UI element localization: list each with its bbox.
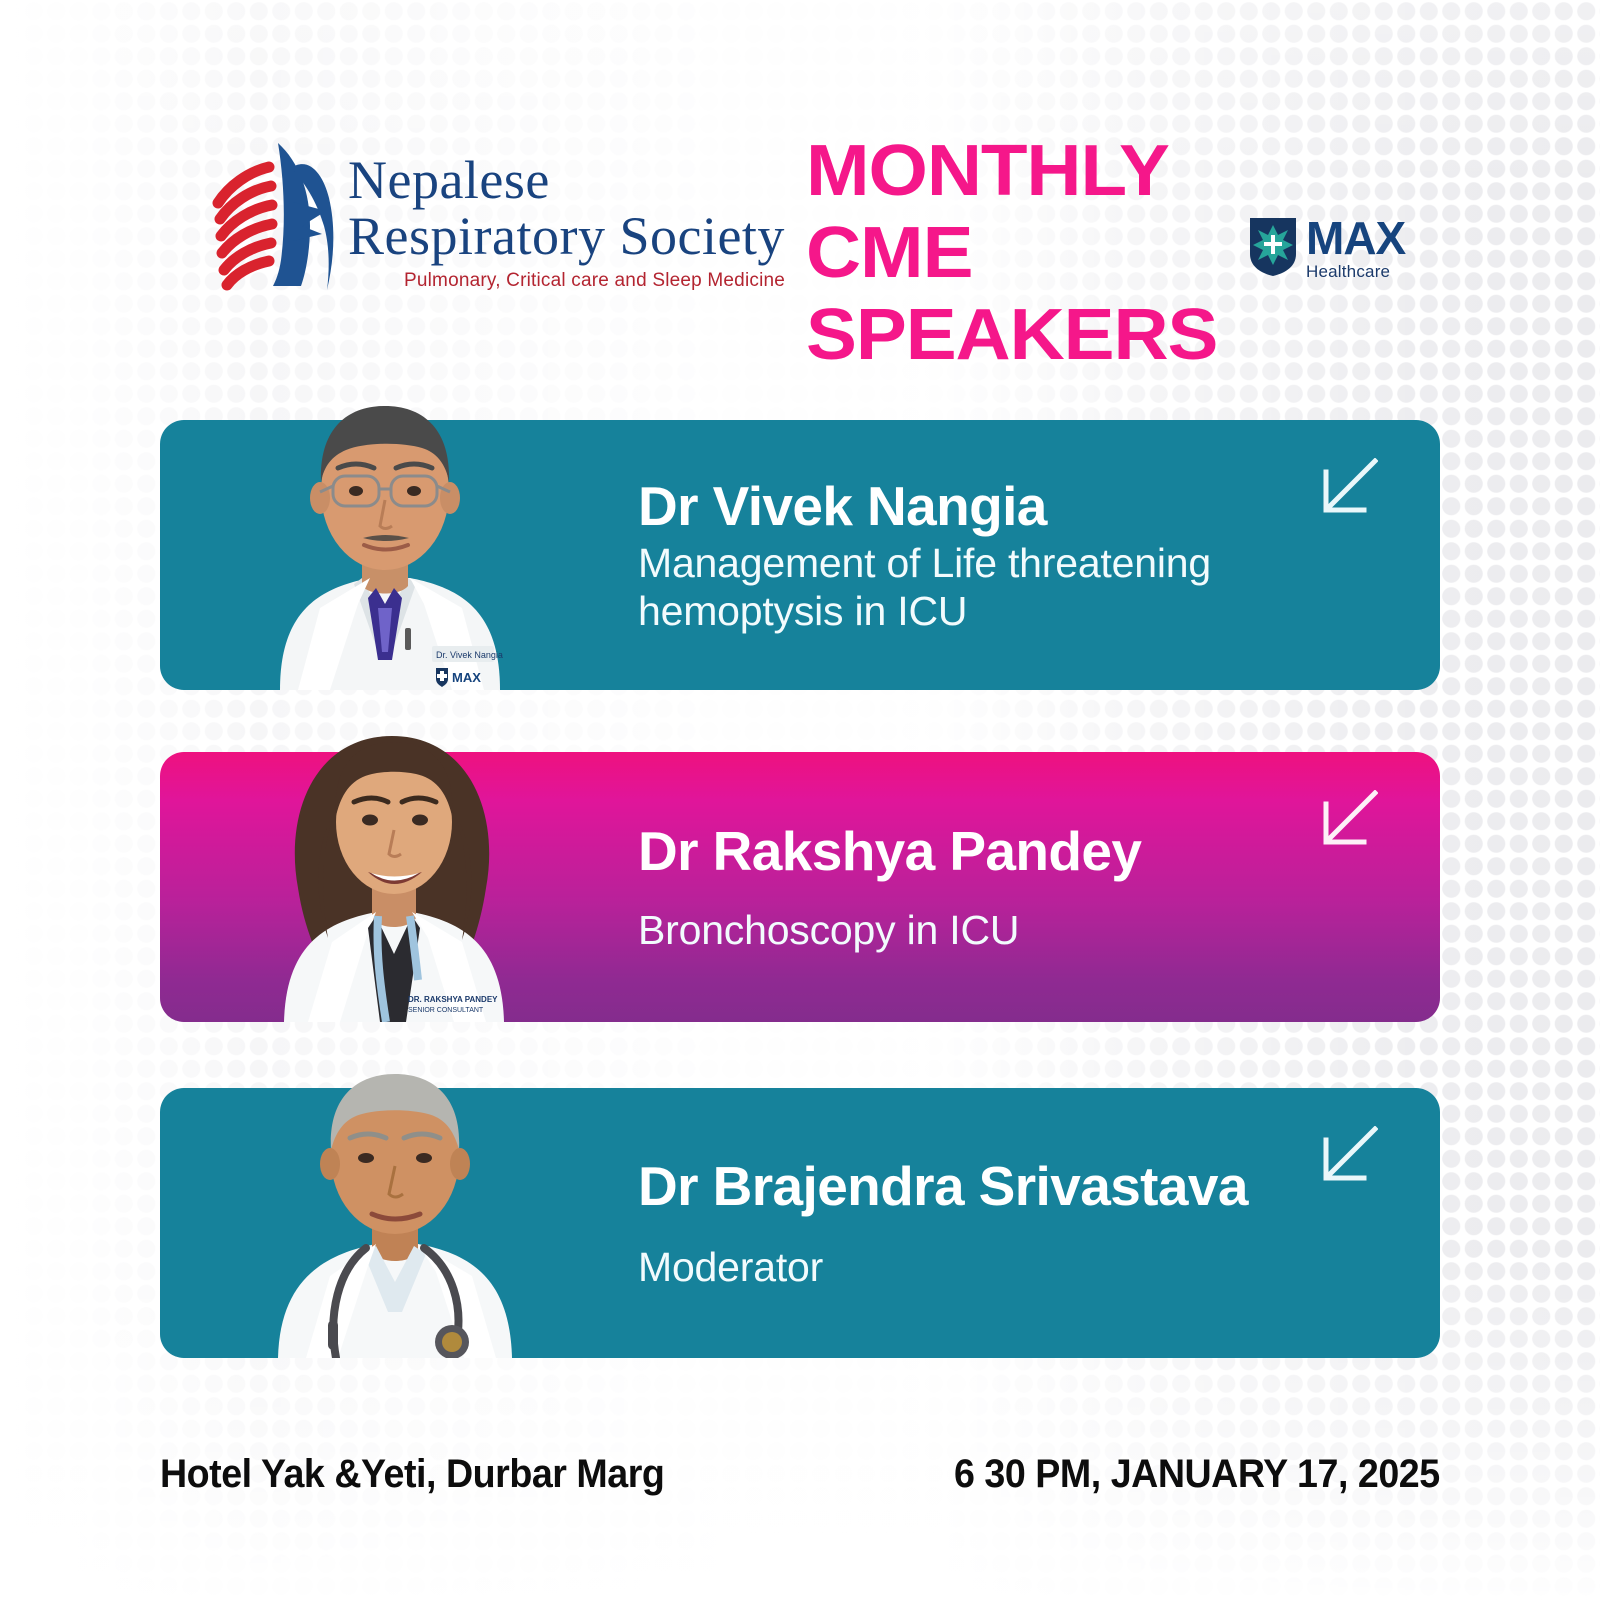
poster-title: MONTHLY CME SPEAKERS [806,130,1217,376]
nepalese-respiratory-society-logo: Nepalese Respiratory Society Pulmonary, … [196,140,756,320]
poster-footer: Hotel Yak &Yeti, Durbar Marg 6 30 PM, JA… [0,1452,1600,1522]
society-name-line1: Nepalese [348,152,758,208]
title-line-monthly: MONTHLY [806,130,1217,212]
society-name-line2: Respiratory Society [348,208,758,264]
speaker-1-text: Dr Vivek Nangia Management of Life threa… [638,420,1320,690]
poster-canvas: Nepalese Respiratory Society Pulmonary, … [0,0,1600,1600]
poster-header: Nepalese Respiratory Society Pulmonary, … [0,118,1600,368]
max-shield-icon [1248,216,1298,278]
speaker-2-text: Dr Rakshya Pandey Bronchoscopy in ICU [638,752,1320,1022]
speaker-card-3[interactable]: Dr Brajendra Srivastava Moderator [160,1088,1440,1358]
arrow-down-left-icon[interactable] [1320,1126,1378,1184]
lung-logo-icon [196,140,346,295]
speaker-3-topic: Moderator [638,1243,1320,1291]
arrow-down-left-icon[interactable] [1320,790,1378,848]
speaker-card-1[interactable]: Dr Vivek Nangia Management of Life threa… [160,420,1440,690]
footer-datetime: 6 30 PM, JANUARY 17, 2025 [954,1452,1440,1497]
society-wordmark: Nepalese Respiratory Society Pulmonary, … [348,152,758,292]
arrow-down-left-icon[interactable] [1320,458,1378,516]
footer-venue: Hotel Yak &Yeti, Durbar Marg [160,1452,664,1497]
speaker-2-topic: Bronchoscopy in ICU [638,906,1320,954]
speaker-3-name: Dr Brajendra Srivastava [638,1155,1320,1217]
title-line-cme: CME [806,212,1217,294]
speaker-1-topic: Management of Life threatening hemoptysi… [638,539,1320,635]
speaker-2-name: Dr Rakshya Pandey [638,820,1320,882]
max-word: MAX [1306,216,1405,260]
max-healthcare-logo: MAX Healthcare [1248,216,1424,292]
max-subtitle: Healthcare [1306,262,1405,282]
max-wordmark: MAX Healthcare [1306,216,1405,282]
title-line-speakers: SPEAKERS [806,294,1217,376]
speaker-card-2[interactable]: Dr Rakshya Pandey Bronchoscopy in ICU [160,752,1440,1022]
speaker-3-text: Dr Brajendra Srivastava Moderator [638,1088,1320,1358]
speaker-1-name: Dr Vivek Nangia [638,475,1320,537]
society-tagline: Pulmonary, Critical care and Sleep Medic… [404,270,758,292]
